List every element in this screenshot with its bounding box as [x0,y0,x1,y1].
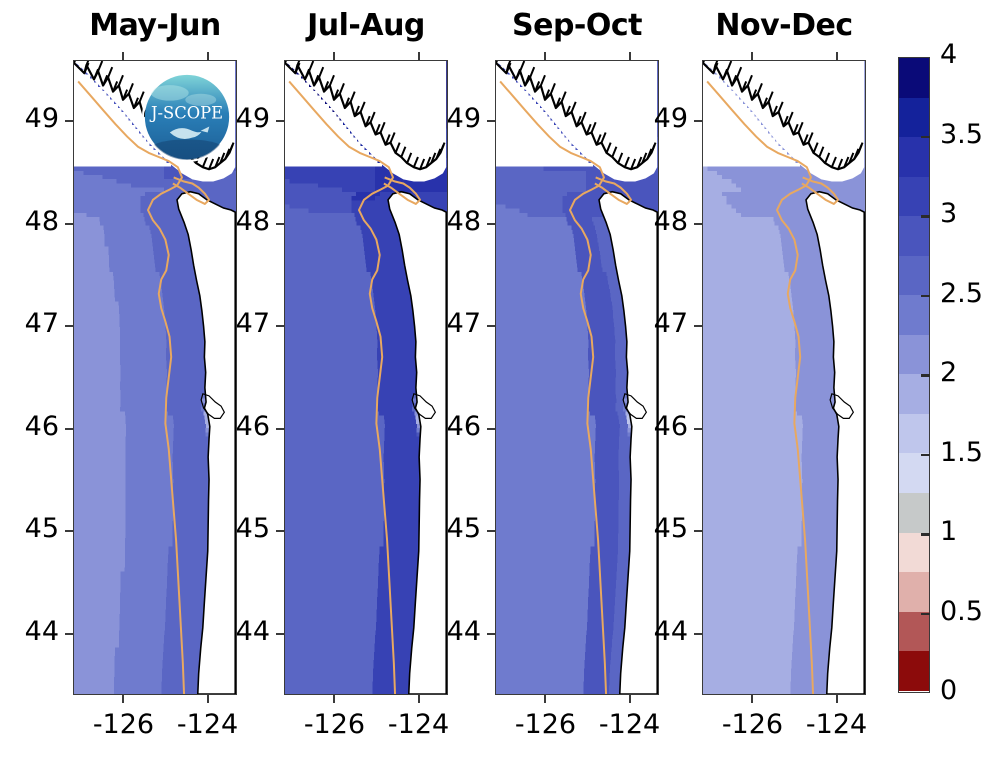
jscope-logo[interactable]: J-SCOPE [142,72,232,162]
colorbar-label-7: 0.5 [940,596,983,627]
ytick-label-0-4: 45 [0,513,59,544]
xtick-mark [751,695,753,703]
ytick-label-3-3: 46 [626,411,688,442]
ytick-mark [487,120,495,122]
colorbar-band-6 [899,295,929,335]
colorbar-band-8 [899,374,929,414]
map-field-3 [703,61,865,694]
ytick-label-1-5: 44 [208,616,270,647]
ytick-label-1-2: 47 [208,308,270,339]
ytick-mark [694,633,702,635]
colorbar-label-3: 2.5 [940,278,983,309]
ytick-label-2-4: 45 [419,513,481,544]
ytick-mark [694,530,702,532]
panel-title-1: Jul-Aug [244,8,488,43]
map-panel-0[interactable] [73,60,237,695]
ytick-label-2-2: 47 [419,308,481,339]
xtick-mark-top [544,52,546,60]
ytick-label-0-1: 48 [0,206,59,237]
colorbar-band-1 [899,98,929,138]
xtick-mark-top [333,52,335,60]
colorbar-band-12 [899,533,929,573]
colorbar-tick-6 [921,533,930,536]
ytick-mark [487,633,495,635]
colorbar-band-13 [899,572,929,612]
ytick-mark [65,633,73,635]
ytick-label-1-4: 45 [208,513,270,544]
xtick-mark [333,695,335,703]
ytick-label-0-2: 47 [0,308,59,339]
xtick-mark [629,695,631,703]
ytick-mark [276,120,284,122]
colorbar-band-9 [899,414,929,454]
colorbar-tick-3 [921,295,930,298]
xtick-label-2-1: -124 [575,709,685,740]
ytick-mark [487,530,495,532]
ytick-mark [65,223,73,225]
ytick-mark [694,223,702,225]
ytick-label-2-3: 46 [419,411,481,442]
ytick-label-0-3: 46 [0,411,59,442]
xtick-mark-top [418,52,420,60]
ytick-label-2-5: 44 [419,616,481,647]
ytick-mark [487,223,495,225]
ytick-mark [276,223,284,225]
colorbar-label-5: 1.5 [940,437,983,468]
ytick-label-0-0: 49 [0,103,59,134]
map-panel-1[interactable] [284,60,448,695]
panel-title-3: Nov-Dec [662,8,906,43]
xtick-label-3-1: -124 [782,709,892,740]
colorbar-band-3 [899,177,929,217]
colorbar-tick-7 [921,613,930,616]
ytick-label-3-0: 49 [626,103,688,134]
xtick-mark [418,695,420,703]
colorbar-label-1: 3.5 [940,119,983,150]
ytick-mark [487,428,495,430]
ytick-label-3-1: 48 [626,206,688,237]
ytick-mark [276,530,284,532]
map-panel-2[interactable] [495,60,659,695]
ytick-label-0-5: 44 [0,616,59,647]
ytick-mark [487,325,495,327]
ytick-label-2-1: 48 [419,206,481,237]
ytick-mark [276,325,284,327]
colorbar-tick-5 [921,454,930,457]
ytick-mark [694,325,702,327]
xtick-label-0-1: -124 [153,709,263,740]
xtick-mark [122,695,124,703]
ytick-label-3-5: 44 [626,616,688,647]
ytick-label-1-1: 48 [208,206,270,237]
map-field-0 [74,61,236,694]
ytick-label-3-4: 45 [626,513,688,544]
ytick-mark [694,120,702,122]
xtick-label-1-1: -124 [364,709,474,740]
ytick-mark [65,325,73,327]
colorbar-label-8: 0 [940,675,957,706]
panel-title-0: May-Jun [33,8,277,43]
colorbar-band-7 [899,335,929,375]
colorbar-tick-4 [921,374,930,377]
colorbar-label-2: 3 [940,198,957,229]
xtick-mark-top [836,52,838,60]
colorbar-band-10 [899,453,929,493]
xtick-mark [836,695,838,703]
ytick-mark [276,633,284,635]
ytick-mark [65,428,73,430]
figure-canvas: May-Jun494847464544-126-124Jul-Aug494847… [0,0,1000,761]
ytick-mark [694,428,702,430]
ytick-mark [65,120,73,122]
colorbar-band-15 [899,651,929,691]
colorbar-label-0: 4 [940,39,957,70]
ytick-label-1-3: 46 [208,411,270,442]
colorbar-tick-2 [921,215,930,218]
map-field-2 [496,61,658,694]
colorbar-label-4: 2 [940,357,957,388]
xtick-mark [207,695,209,703]
xtick-mark [544,695,546,703]
colorbar-band-5 [899,256,929,296]
colorbar-band-2 [899,137,929,177]
colorbar-label-6: 1 [940,516,957,547]
map-panel-3[interactable] [702,60,866,695]
xtick-mark-top [122,52,124,60]
colorbar-band-0 [899,58,929,98]
colorbar-band-14 [899,612,929,652]
ytick-mark [276,428,284,430]
ytick-label-2-0: 49 [419,103,481,134]
xtick-mark-top [629,52,631,60]
xtick-mark-top [207,52,209,60]
colorbar-tick-1 [921,136,930,139]
ytick-label-3-2: 47 [626,308,688,339]
colorbar-band-11 [899,493,929,533]
xtick-mark-top [751,52,753,60]
colorbar-band-4 [899,216,929,256]
ytick-mark [65,530,73,532]
map-field-1 [285,61,447,694]
